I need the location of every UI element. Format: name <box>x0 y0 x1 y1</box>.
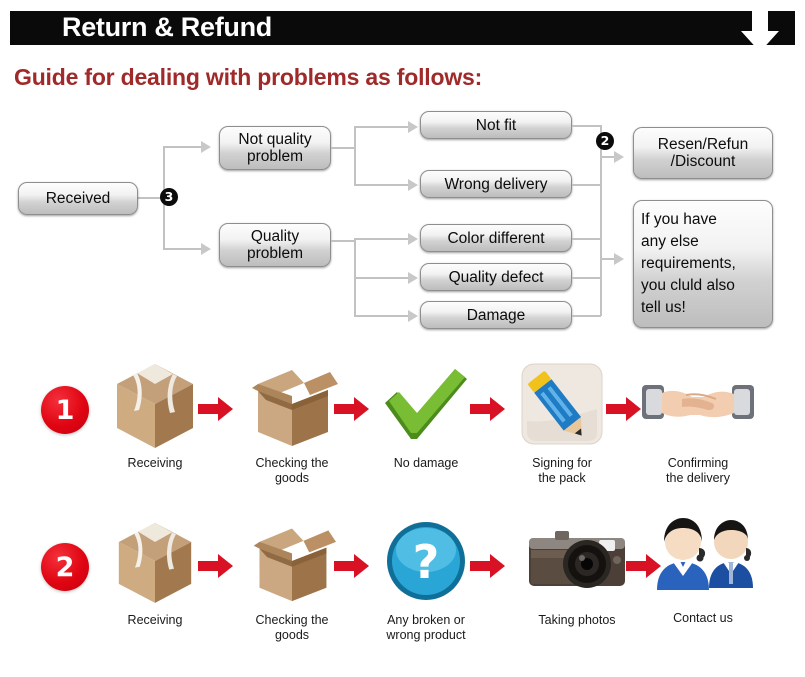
step-row-1: 1 Receiving <box>0 348 805 508</box>
step-badge-1-label: 1 <box>56 395 75 426</box>
flow-box-color-different-label: Color different <box>447 230 544 247</box>
arrowhead-icon <box>408 121 418 133</box>
step-item-taking-photos: Taking photos <box>514 515 640 628</box>
flow-box-damage: Damage <box>420 301 572 329</box>
step-item-label: Taking photos <box>514 613 640 628</box>
flow-box-not-quality-problem: Not qualityproblem <box>219 126 331 170</box>
step-item-label: Contact us <box>640 611 766 626</box>
flow-box-damage-label: Damage <box>467 307 526 324</box>
connector <box>354 126 356 186</box>
flow-box-color-different: Color different <box>420 224 572 252</box>
flow-box-quality-defect: Quality defect <box>420 263 572 291</box>
svg-text:?: ? <box>413 535 440 589</box>
connector <box>572 277 601 279</box>
connector <box>572 125 601 127</box>
handshake-icon <box>635 358 761 450</box>
step-item-label: Signing forthe pack <box>499 456 625 486</box>
flow-box-wrong-delivery-label: Wrong delivery <box>444 176 547 193</box>
flow-box-received-label: Received <box>46 190 111 207</box>
connector <box>354 238 410 240</box>
badge-3: 3 <box>160 188 178 206</box>
step-item-label: Receiving <box>92 456 218 471</box>
badge-2-label: 2 <box>601 135 610 148</box>
red-arrow-icon <box>470 553 506 579</box>
step-row-2: 2 Receiving <box>0 505 805 665</box>
arrowhead-icon <box>408 179 418 191</box>
arrowhead-icon <box>614 151 624 163</box>
step-item-label: Any broken orwrong product <box>363 613 489 643</box>
flow-box-any-else-requirements: If you haveany elserequirements,you clul… <box>633 200 773 328</box>
arrowhead-icon <box>408 233 418 245</box>
step-badge-2-label: 2 <box>56 552 75 583</box>
connector <box>331 147 355 149</box>
arrowhead-icon <box>614 253 624 265</box>
connector <box>572 238 601 240</box>
flow-box-quality-label: Qualityproblem <box>247 228 303 262</box>
camera-icon <box>514 515 640 607</box>
arrowhead-icon <box>201 243 211 255</box>
step-item-label: Confirmingthe delivery <box>635 456 761 486</box>
arrowhead-icon <box>201 141 211 153</box>
flow-box-resend-refund-discount: Resen/Refun/Discount <box>633 127 773 179</box>
connector <box>354 277 410 279</box>
flow-box-not-quality-label: Not qualityproblem <box>238 131 311 165</box>
connector <box>331 240 355 242</box>
step-item-label: Checking thegoods <box>229 613 355 643</box>
connector <box>354 126 410 128</box>
flow-box-quality-defect-label: Quality defect <box>449 269 544 286</box>
arrowhead-icon <box>408 310 418 322</box>
step-badge-2: 2 <box>41 543 89 591</box>
flow-box-received: Received <box>18 182 138 215</box>
flow-box-wrong-delivery: Wrong delivery <box>420 170 572 198</box>
flow-box-not-fit-label: Not fit <box>476 117 516 134</box>
flowchart: Received 3 Not qualityproblem Qualitypro… <box>0 100 805 340</box>
flow-box-not-fit: Not fit <box>420 111 572 139</box>
flow-box-quality-problem: Qualityproblem <box>219 223 331 267</box>
connector <box>354 184 410 186</box>
guide-heading: Guide for dealing with problems as follo… <box>14 64 482 91</box>
connector <box>163 248 203 250</box>
step-item-label: Checking thegoods <box>229 456 355 486</box>
badge-3-label: 3 <box>165 191 174 204</box>
page-title: Return & Refund <box>62 11 272 45</box>
step-item-label: No damage <box>363 456 489 471</box>
step-item-confirming: Confirmingthe delivery <box>635 358 761 486</box>
flow-box-resend-label: Resen/Refun/Discount <box>658 136 748 170</box>
support-people-icon <box>640 509 766 601</box>
flow-box-any-else-label: If you haveany elserequirements,you clul… <box>641 209 736 319</box>
step-badge-1: 1 <box>41 386 89 434</box>
down-arrow-icon <box>739 7 781 53</box>
connector <box>354 315 410 317</box>
connector <box>572 184 601 186</box>
step-item-label: Receiving <box>92 613 218 628</box>
step-item-contact-us: Contact us <box>640 509 766 626</box>
arrowhead-icon <box>408 272 418 284</box>
connector <box>600 125 602 316</box>
connector <box>572 315 601 317</box>
badge-2: 2 <box>596 132 614 150</box>
connector <box>163 146 203 148</box>
